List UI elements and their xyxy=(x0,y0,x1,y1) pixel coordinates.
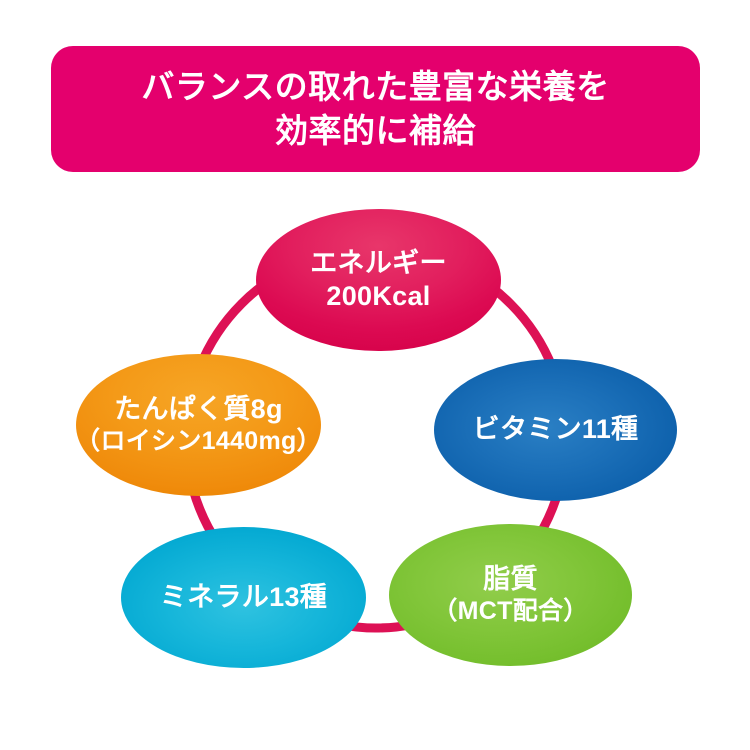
nutrient-node-mineral-label-1: ミネラル13種 xyxy=(160,581,327,614)
nutrient-node-energy-label-2: 200Kcal xyxy=(326,280,430,313)
headline-banner: バランスの取れた豊富な栄養を 効率的に補給 xyxy=(51,46,700,172)
nutrient-ring-diagram: エネルギー 200Kcal たんぱく質8g （ロイシン1440mg） ビタミン1… xyxy=(0,176,750,750)
headline-line-1: バランスの取れた豊富な栄養を xyxy=(141,65,609,109)
nutrient-node-energy[interactable]: エネルギー 200Kcal xyxy=(256,209,501,351)
nutrient-node-mineral[interactable]: ミネラル13種 xyxy=(121,527,366,668)
nutrient-node-protein-label-1: たんぱく質8g xyxy=(114,393,283,426)
nutrient-node-protein-label-2: （ロイシン1440mg） xyxy=(75,426,322,457)
nutrient-node-fat-label-1: 脂質 xyxy=(483,563,538,596)
nutrient-node-vitamin[interactable]: ビタミン11種 xyxy=(434,359,677,501)
nutrition-infographic: バランスの取れた豊富な栄養を 効率的に補給 エネルギー 200Kcal たんぱく… xyxy=(0,0,750,750)
nutrient-node-fat-label-2: （MCT配合） xyxy=(432,596,588,627)
nutrient-node-vitamin-label-1: ビタミン11種 xyxy=(473,413,639,446)
headline-line-2: 効率的に補給 xyxy=(275,109,476,153)
nutrient-node-protein[interactable]: たんぱく質8g （ロイシン1440mg） xyxy=(76,354,321,496)
nutrient-node-energy-label-1: エネルギー xyxy=(310,247,447,280)
nutrient-node-fat[interactable]: 脂質 （MCT配合） xyxy=(389,524,632,666)
